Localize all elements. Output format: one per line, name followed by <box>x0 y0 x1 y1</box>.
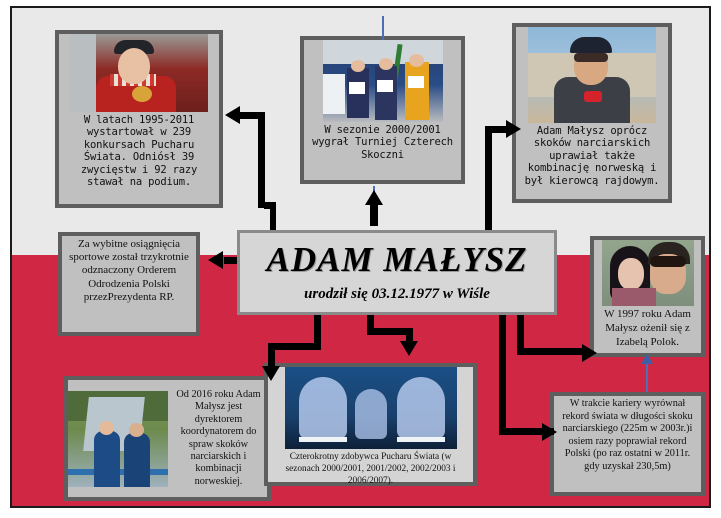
card-director-text: Od 2016 roku Adam Małysz jest dyrektorem… <box>170 387 267 490</box>
page-title: ADAM MAŁYSZ <box>267 242 528 277</box>
crystal-globes-trophies-photo <box>285 367 457 449</box>
blue-arrow-record-to-wife-head <box>641 354 653 364</box>
arrow-to-rally-elbow <box>485 126 507 133</box>
arrow-to-fourhills-head <box>365 190 383 205</box>
arrow-to-order-head <box>208 251 223 269</box>
card-order-text: Za wybitne osiągnięcia sportowe został t… <box>62 236 196 306</box>
card-wife[interactable]: W 1997 roku Adam Małysz ożenił się z Iza… <box>590 236 705 357</box>
blue-line-four-hills-top <box>382 16 384 40</box>
card-order-of-poland[interactable]: Za wybitne osiągnięcia sportowe został t… <box>58 232 200 336</box>
page-subtitle: urodził się 03.12.1977 w Wiśle <box>304 286 490 303</box>
adam-malysz-with-medals-photo <box>70 34 208 112</box>
card-world-record[interactable]: W trakcie kariery wyrównał rekord świata… <box>550 392 705 496</box>
card-rally[interactable]: Adam Małysz oprócz skoków narciarskich u… <box>512 23 672 203</box>
arrow-to-wife-seg2 <box>517 348 585 355</box>
card-record-text: W trakcie kariery wyrównał rekord świata… <box>554 396 701 475</box>
podium-four-hills-photo <box>323 40 443 122</box>
arrow-to-worldcup-head <box>225 106 240 124</box>
arrow-to-director-head <box>262 366 280 381</box>
arrow-to-wife-head <box>582 344 597 362</box>
adam-malysz-rally-driver-photo <box>528 27 656 123</box>
arrow-to-cups-head <box>400 341 418 356</box>
title-card[interactable]: ADAM MAŁYSZ urodził się 03.12.1977 w Wiś… <box>237 230 557 315</box>
arrow-to-rally-shaft <box>485 126 492 230</box>
card-four-hills-text: W sezonie 2000/2001 wygrał Turniej Czter… <box>304 122 461 163</box>
card-four-hills[interactable]: W sezonie 2000/2001 wygrał Turniej Czter… <box>300 36 465 184</box>
arrow-to-worldcup-seg3 <box>240 112 264 119</box>
arrow-to-rally-head <box>506 120 521 138</box>
arrow-to-record-seg1 <box>499 313 506 435</box>
arrow-to-record-head <box>542 423 557 441</box>
card-world-cup[interactable]: W latach 1995-2011 wystartował w 239 kon… <box>55 30 223 208</box>
blue-line-record-to-wife <box>646 360 648 392</box>
arrow-to-worldcup-joint <box>264 202 276 209</box>
card-rally-text: Adam Małysz oprócz skoków narciarskich u… <box>516 123 668 189</box>
card-wife-text: W 1997 roku Adam Małysz ożenił się z Iza… <box>594 306 701 351</box>
arrow-to-fourhills-shaft <box>370 204 378 226</box>
arrow-to-worldcup-seg2 <box>258 112 265 208</box>
malysz-at-ski-jump-hill-photo <box>68 391 168 487</box>
card-world-cup-globes[interactable]: Czterokrotny zdobywca Pucharu Świata (w … <box>264 363 477 486</box>
card-cups-text: Czterokrotny zdobywca Pucharu Świata (w … <box>268 449 473 489</box>
card-world-cup-text: W latach 1995-2011 wystartował w 239 kon… <box>59 112 219 190</box>
card-director[interactable]: Od 2016 roku Adam Małysz jest dyrektorem… <box>64 376 271 501</box>
arrow-to-order-seg2 <box>224 257 231 263</box>
adam-malysz-with-wife-photo <box>602 240 694 306</box>
poster-canvas: W latach 1995-2011 wystartował w 239 kon… <box>10 6 711 508</box>
arrow-to-director-seg2 <box>268 343 321 350</box>
